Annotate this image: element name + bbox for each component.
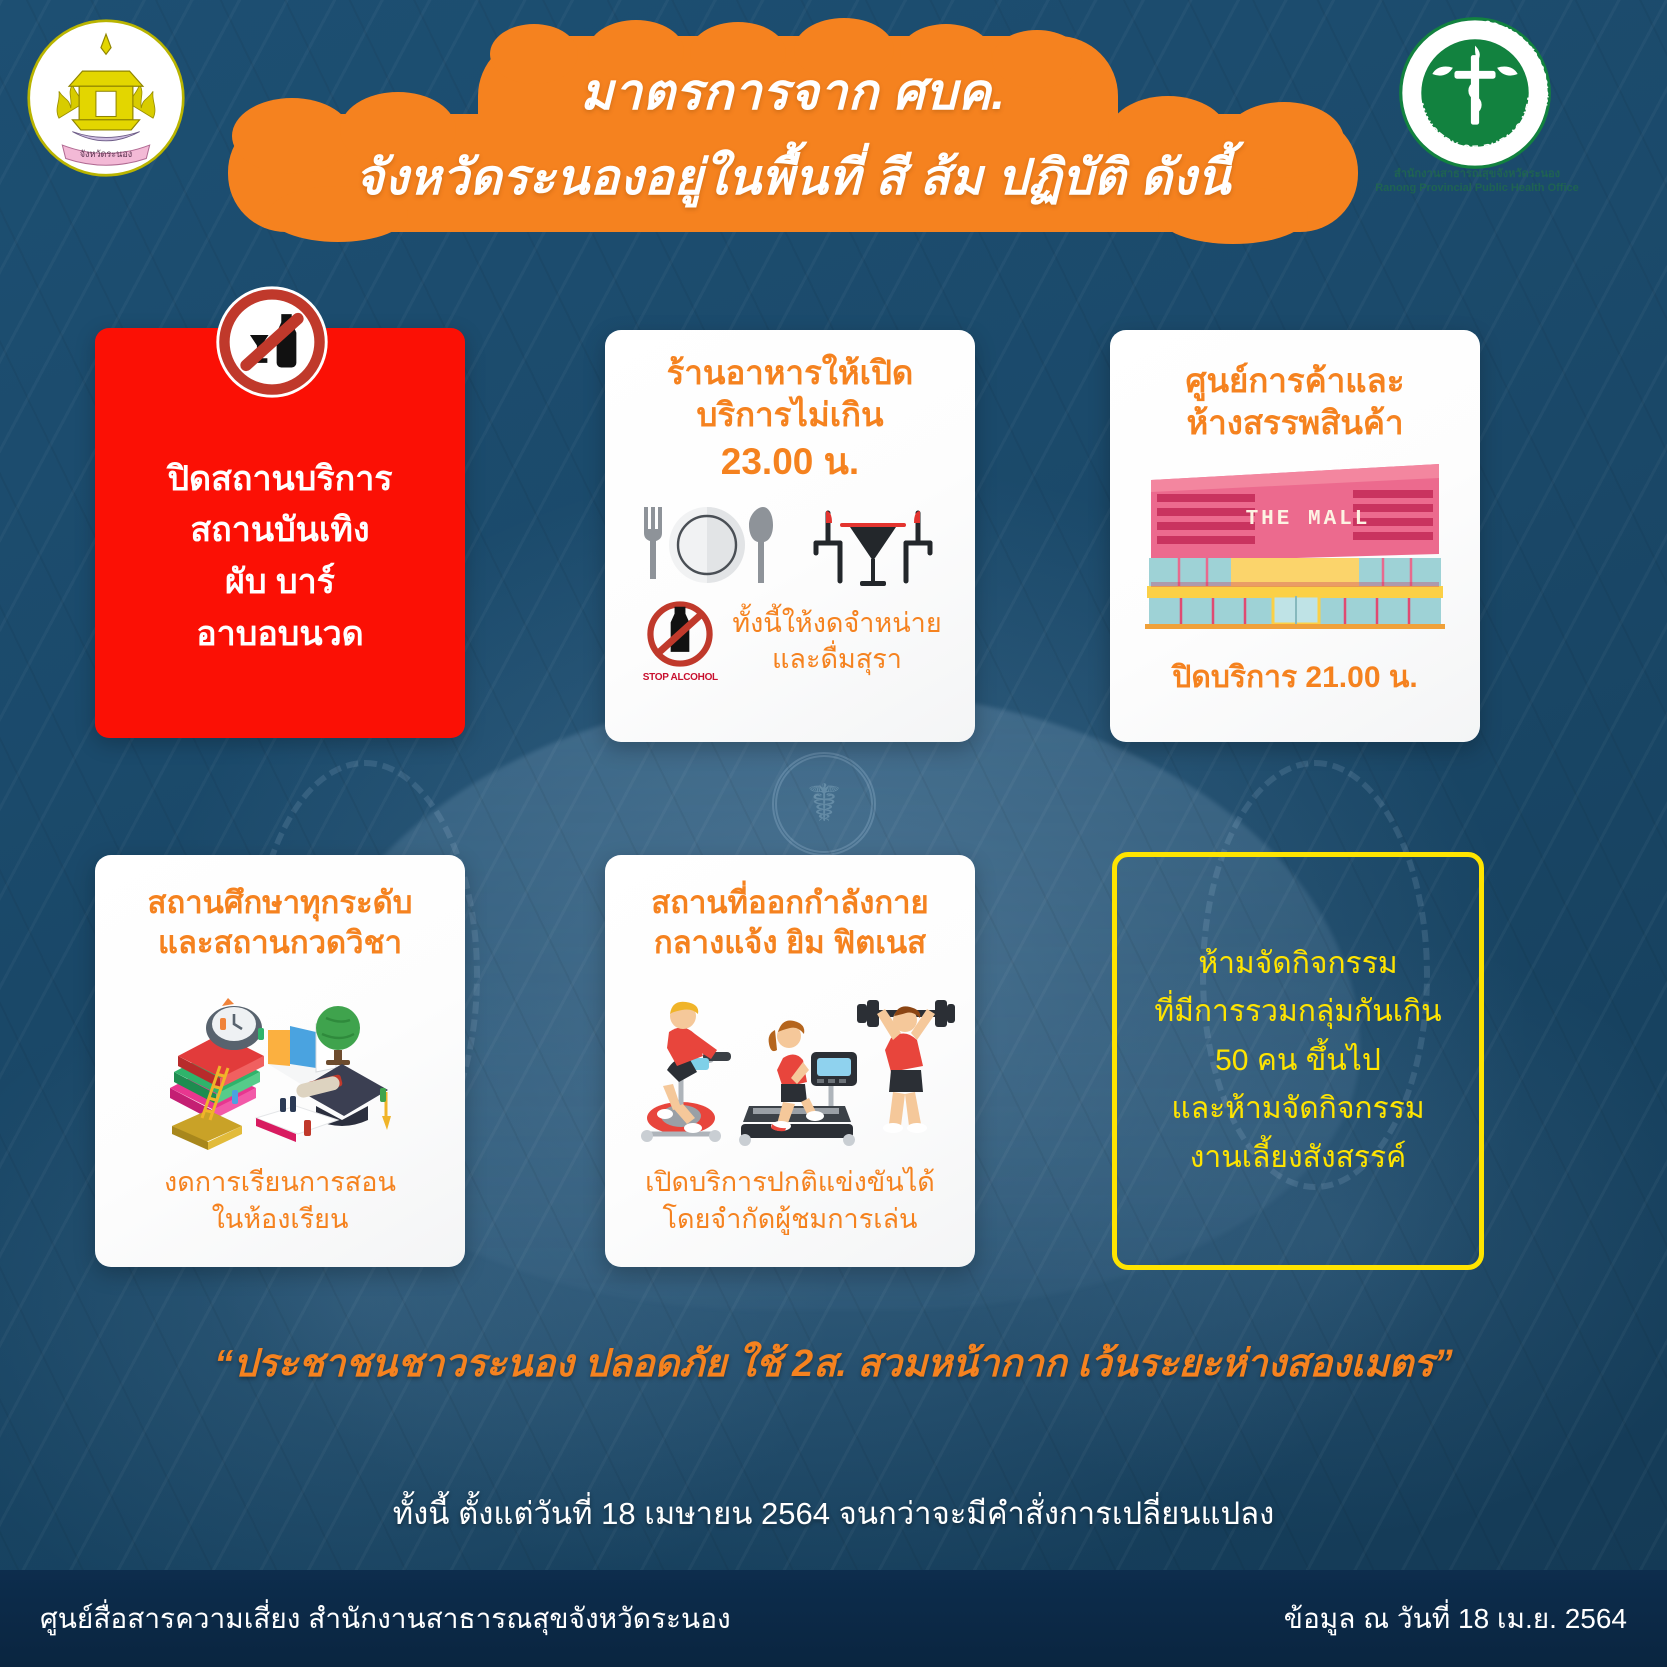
restaurant-note-2: และดื่มสุรา xyxy=(732,641,941,677)
title-line-2: จังหวัดระนองอยู่ในพื้นที่ สี ส้ม ปฏิบัติ… xyxy=(355,138,1231,216)
closure-line-3: ผับ บาร์ xyxy=(225,557,335,609)
gym-title-1: สถานที่ออกกำลังกาย xyxy=(651,883,928,923)
stop-alcohol-icon xyxy=(641,599,719,669)
card-gathering-ban[interactable]: ห้ามจัดกิจกรรม ที่มีการรวมกลุ่มกันเกิน 5… xyxy=(1112,852,1484,1270)
mall-sign-text: THE MALL xyxy=(1233,508,1383,531)
header: จังหวัดระนอง กระทรวงสาธารณสุข MINISTRY O… xyxy=(0,0,1667,260)
gathering-line-2: ที่มีการรวมกลุ่มกันเกิน xyxy=(1154,988,1441,1037)
footer-right-text: ข้อมูล ณ วันที่ 18 เม.ย. 2564 xyxy=(1284,1597,1627,1641)
restaurant-title-1: ร้านอาหารให้เปิด xyxy=(667,352,914,394)
card-restaurant[interactable]: ร้านอาหารให้เปิด บริการไม่เกิน 23.00 น. xyxy=(605,330,975,742)
medical-emblem-watermark: ☤ xyxy=(772,752,876,856)
school-note-2: ในห้องเรียน xyxy=(212,1201,349,1237)
closure-line-2: สถานบันเทิง xyxy=(190,505,369,557)
cutlery-plate-icon xyxy=(632,499,782,587)
gathering-line-4: และห้ามจัดกิจกรรม xyxy=(1171,1085,1424,1134)
moph-office-caption: สำนักงานสาธารณสุขจังหวัดระนอง Ranong Pro… xyxy=(1352,168,1602,196)
ministry-of-public-health-seal: กระทรวงสาธารณสุข MINISTRY OF PUBLIC HEAL… xyxy=(1396,14,1554,172)
slogan-text: “ประชาชนชาวระนอง ปลอดภัย ใช้ 2ส. สวมหน้า… xyxy=(0,1332,1667,1393)
mall-title-2: ห้างสรรพสินค้า xyxy=(1186,402,1403,444)
title-line-1: มาตรการจาก ศบค. xyxy=(580,53,1005,132)
gathering-line-3: 50 คน ขึ้นไป xyxy=(1215,1037,1381,1086)
mall-building-illustration: THE MALL xyxy=(1139,458,1451,630)
footer-left-text: ศูนย์สื่อสารความเสี่ยง สำนักงานสาธารณสุข… xyxy=(40,1597,731,1641)
footer-bar: ศูนย์สื่อสารความเสี่ยง สำนักงานสาธารณสุข… xyxy=(0,1570,1667,1667)
closure-line-4: อาบอบนวด xyxy=(196,609,364,661)
mall-closing-time: ปิดบริการ 21.00 น. xyxy=(1172,654,1417,701)
card-shopping-mall[interactable]: ศูนย์การค้าและ ห้างสรรพสินค้า xyxy=(1110,330,1480,742)
stop-alcohol-label: STOP ALCOHOL xyxy=(638,672,722,683)
gathering-line-1: ห้ามจัดกิจกรรม xyxy=(1198,940,1397,989)
card-gym-fitness[interactable]: สถานที่ออกกำลังกาย กลางแจ้ง ยิม ฟิตเนส xyxy=(605,855,975,1267)
restaurant-closing-time: 23.00 น. xyxy=(721,440,859,484)
province-seal-ranong: จังหวัดระนอง xyxy=(22,14,190,182)
restaurant-icon-row xyxy=(632,495,948,587)
title-banner: มาตรการจาก ศบค. จังหวัดระนองอยู่ในพื้นที… xyxy=(228,36,1358,232)
school-title-2: และสถานกวดวิชา xyxy=(158,923,402,963)
mall-title-1: ศูนย์การค้าและ xyxy=(1186,360,1405,402)
moph-caption-en: Ranong Provincial Public Health Office xyxy=(1352,182,1602,196)
restaurant-title-2: บริการไม่เกิน xyxy=(696,394,883,436)
gathering-line-5: งานเลี้ยงสังสรรค์ xyxy=(1190,1134,1406,1183)
education-books-globe-icon xyxy=(130,968,430,1158)
school-note-1: งดการเรียนการสอน xyxy=(164,1164,396,1200)
card-education[interactable]: สถานศึกษาทุกระดับ และสถานกวดวิชา xyxy=(95,855,465,1267)
dining-table-icon xyxy=(798,499,948,587)
moph-caption-th: สำนักงานสาธารณสุขจังหวัดระนอง xyxy=(1352,168,1602,182)
gym-title-2: กลางแจ้ง ยิม ฟิตเนส xyxy=(654,923,926,963)
no-alcohol-icon xyxy=(214,284,330,400)
svg-text:จังหวัดระนอง: จังหวัดระนอง xyxy=(80,149,132,159)
gym-exercise-icon xyxy=(625,966,955,1162)
restaurant-alcohol-note: STOP ALCOHOL ทั้งนี้ให้งดจำหน่าย และดื่ม… xyxy=(638,599,941,683)
stop-alcohol-icon-group: STOP ALCOHOL xyxy=(638,599,722,683)
gym-note-1: เปิดบริการปกติแข่งขันได้ xyxy=(645,1164,935,1200)
effective-date-text: ทั้งนี้ ตั้งแต่วันที่ 18 เมษายน 2564 จนก… xyxy=(0,1488,1667,1538)
school-title-1: สถานศึกษาทุกระดับ xyxy=(148,883,413,923)
restaurant-note-text: ทั้งนี้ให้งดจำหน่าย และดื่มสุรา xyxy=(732,605,941,677)
gym-note-2: โดยจำกัดผู้ชมการเล่น xyxy=(663,1201,918,1237)
restaurant-note-1: ทั้งนี้ให้งดจำหน่าย xyxy=(732,605,941,641)
closure-line-1: ปิดสถานบริการ xyxy=(167,454,392,506)
